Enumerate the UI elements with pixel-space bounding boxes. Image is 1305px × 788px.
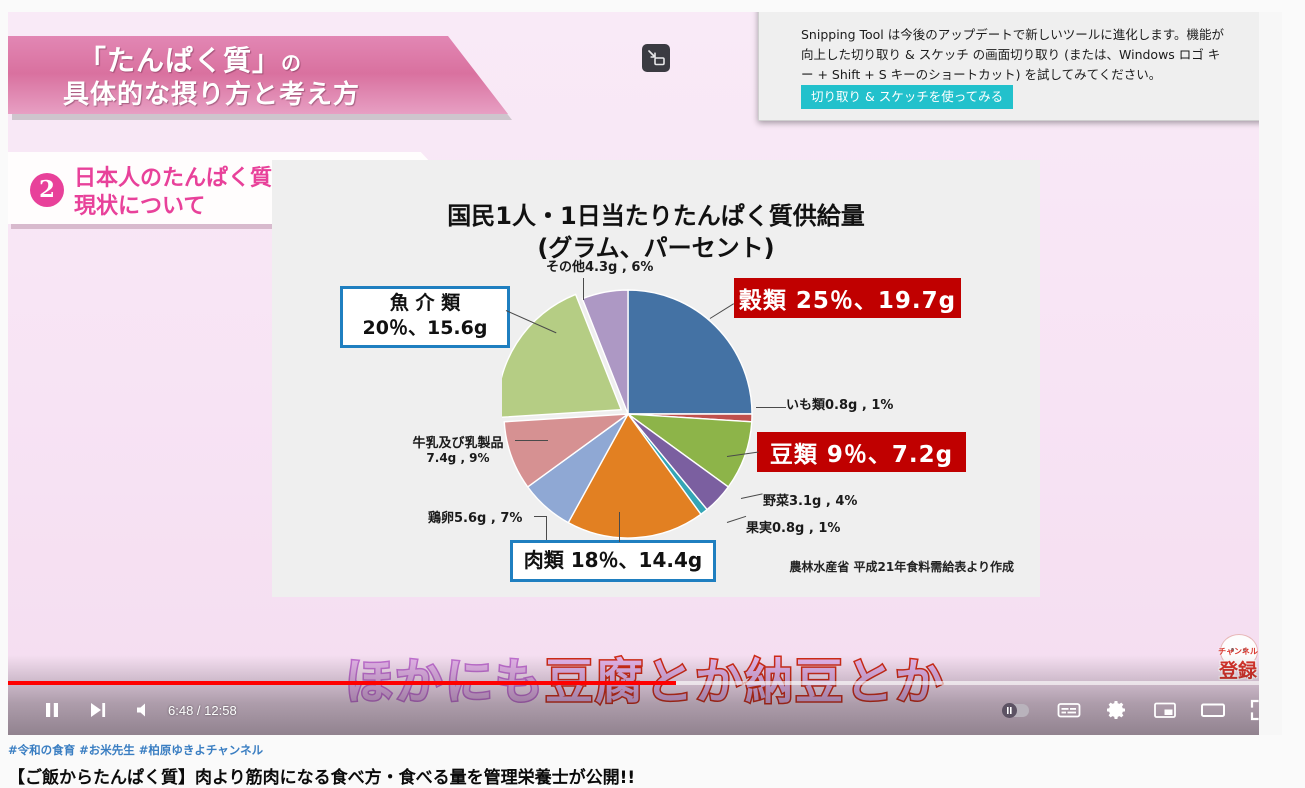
leader-egg-v bbox=[546, 516, 547, 542]
label-egg: 鶏卵5.6g , 7% bbox=[428, 507, 522, 526]
miniplayer-icon[interactable] bbox=[642, 44, 670, 72]
label-milk: 牛乳及び乳製品 7.4g , 9% bbox=[398, 432, 518, 465]
volume-icon bbox=[134, 700, 156, 720]
gear-icon bbox=[1106, 699, 1128, 721]
time-display: 6:48 / 12:58 bbox=[168, 685, 237, 735]
label-vegetable: 野菜3.1g , 4% bbox=[763, 490, 857, 509]
label-potato: いも類0.8g , 1% bbox=[786, 394, 893, 413]
next-video-button[interactable] bbox=[77, 685, 121, 735]
pause-icon bbox=[42, 700, 62, 720]
chart-subtitle: (グラム、パーセント) bbox=[272, 228, 1040, 263]
callout-seafood-line2: 20％、15.6g bbox=[343, 316, 507, 341]
callout-cereals: 穀類 25％、19.7g bbox=[734, 278, 961, 318]
video-meta: #令和の食育 #お米先生 #柏原ゆきよチャンネル 【ご飯からたんぱく質】肉より筋… bbox=[8, 742, 1278, 788]
next-icon bbox=[88, 700, 110, 720]
subtitles-icon bbox=[1057, 700, 1081, 720]
leader-other bbox=[583, 278, 584, 300]
subtitles-button[interactable] bbox=[1047, 685, 1091, 735]
slide-header-banner: 「たんぱく質」の 具体的な摂り方と考え方 bbox=[8, 36, 508, 114]
leader-potato bbox=[756, 407, 786, 408]
pause-button[interactable] bbox=[30, 685, 74, 735]
snipping-tool-body: Snipping Tool は今後のアップデートで新しいツールに進化します。機能… bbox=[801, 25, 1226, 85]
slide-header-line1-suffix: の bbox=[281, 51, 302, 75]
callout-seafood: 魚 介 類 20％、15.6g bbox=[340, 286, 510, 348]
video-player[interactable]: 「たんぱく質」の 具体的な摂り方と考え方 2 日本人のたんぱく質の 現状について… bbox=[8, 12, 1282, 735]
player-right-strip bbox=[1259, 12, 1282, 735]
video-tags[interactable]: #令和の食育 #お米先生 #柏原ゆきよチャンネル bbox=[8, 742, 1278, 758]
slide-header-line2: 具体的な摂り方と考え方 bbox=[63, 74, 360, 111]
slide-header: 「たんぱく質」の 具体的な摂り方と考え方 bbox=[8, 36, 508, 114]
callout-meat: 肉類 18％、14.4g bbox=[510, 540, 716, 582]
miniplayer-control-icon bbox=[1153, 700, 1177, 720]
chart-title: 国民1人・1日当たりたんぱく質供給量 bbox=[272, 196, 1040, 231]
callout-seafood-line1: 魚 介 類 bbox=[343, 291, 507, 316]
callout-beans: 豆類 9％、7.2g bbox=[757, 432, 966, 472]
slide-header-line1-main: 「たんぱく質」 bbox=[78, 44, 281, 77]
chart-source: 農林水産省 平成21年食料需給表より作成 bbox=[789, 558, 1014, 575]
leader-milk bbox=[515, 440, 548, 441]
snipping-tool-banner[interactable]: Snipping Tool は今後のアップデートで新しいツールに進化します。機能… bbox=[758, 12, 1270, 121]
pie-chart-panel: 国民1人・1日当たりたんぱく質供給量 (グラム、パーセント) その他4.3g ,… bbox=[272, 160, 1040, 597]
label-fruit: 果実0.8g , 1% bbox=[746, 517, 840, 536]
autoplay-toggle-icon bbox=[999, 701, 1035, 719]
settings-button[interactable] bbox=[1095, 685, 1139, 735]
page-background: 「たんぱく質」の 具体的な摂り方と考え方 2 日本人のたんぱく質の 現状について… bbox=[0, 0, 1305, 787]
volume-button[interactable] bbox=[123, 685, 167, 735]
theater-button[interactable] bbox=[1191, 685, 1235, 735]
section-number-badge: 2 bbox=[30, 173, 64, 207]
leader-egg-h bbox=[534, 516, 547, 517]
slide-header-line1: 「たんぱく質」の bbox=[78, 39, 302, 79]
autoplay-toggle[interactable] bbox=[993, 685, 1041, 735]
leader-meat bbox=[619, 512, 620, 542]
theater-icon bbox=[1200, 700, 1226, 720]
video-title: 【ご飯からたんぱく質】肉より筋肉になる食べ方・食べる量を管理栄養士が公開!! bbox=[8, 763, 1278, 788]
label-other: その他4.3g , 6% bbox=[546, 256, 653, 275]
miniplayer-button[interactable] bbox=[1143, 685, 1187, 735]
snip-and-sketch-button[interactable]: 切り取り & スケッチを使ってみる bbox=[801, 85, 1013, 109]
player-controls: 6:48 / 12:58 bbox=[8, 685, 1282, 735]
miniplayer-glyph bbox=[648, 50, 665, 67]
slide-section-line2: 現状について bbox=[74, 188, 205, 220]
